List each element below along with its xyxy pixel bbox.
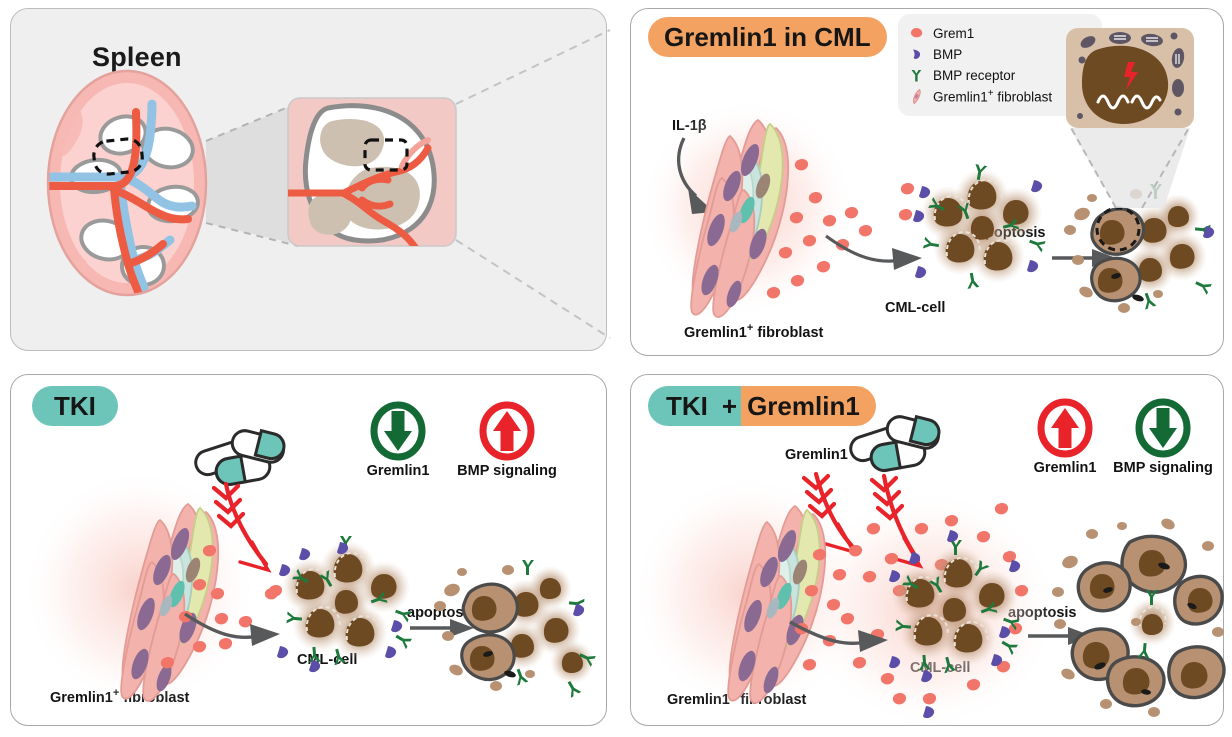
combo-pill-icon: [848, 414, 942, 472]
figure-canvas: Spleen: [0, 0, 1232, 737]
spleen-illustration: [10, 8, 607, 351]
cml-nucleus-inset: [1066, 28, 1194, 208]
combo-mechanism-illustration: [630, 374, 1224, 726]
tki-pill-icon: [193, 428, 287, 486]
cml-mechanism-illustration: [630, 8, 1224, 356]
tki-cml-cell-cluster: [269, 536, 412, 672]
tki-apoptosis-arrow: [410, 619, 474, 637]
tki-mechanism-illustration: [10, 374, 607, 726]
combo-apoptotic-cluster: [1052, 517, 1224, 717]
cml-cell-cluster: [899, 164, 1046, 289]
spleen-organ: [0, 71, 206, 295]
magnification-cone: [206, 103, 298, 246]
panel-link-dashes: [456, 30, 610, 338]
spleen-cross-section-inset: [282, 98, 456, 252]
